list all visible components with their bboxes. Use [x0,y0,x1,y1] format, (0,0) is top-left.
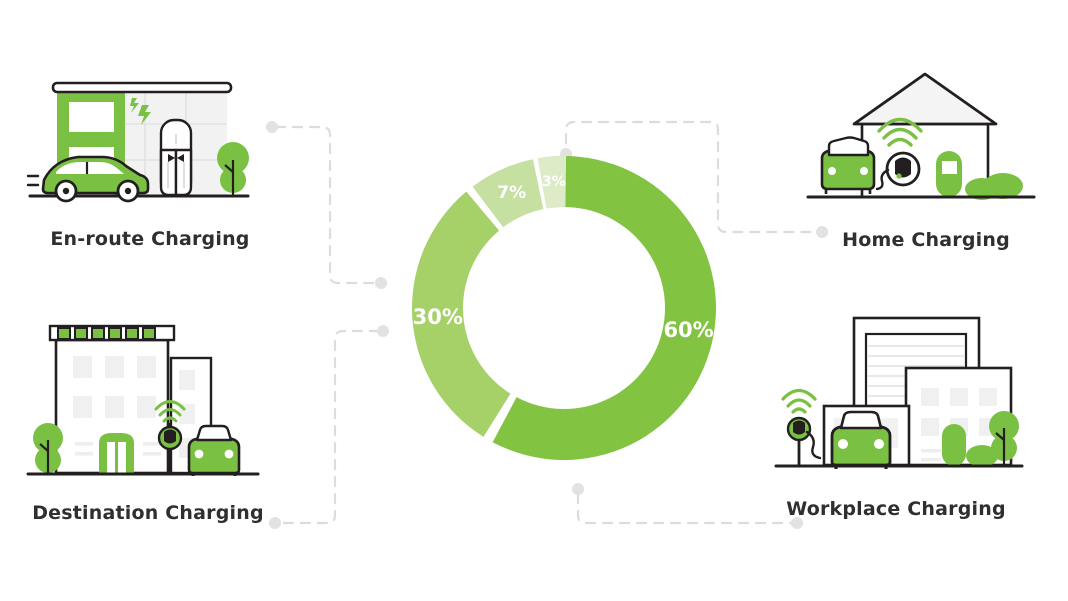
illustration-destination-charging [18,318,278,498]
panel-caption-home: Home Charging [796,229,1056,251]
tree [33,423,63,473]
panel-caption-workplace: Workplace Charging [766,498,1026,520]
donut-label-home: 60% [663,318,713,342]
wifi-icon [783,391,815,413]
donut-label-enroute: 3% [542,174,566,190]
panel-caption-destination: Destination Charging [18,502,278,524]
connector-dot-enroute-end [375,277,387,289]
charging-post [788,418,820,465]
connector-enroute [276,127,377,283]
illustration-workplace-charging [766,306,1036,496]
connector-dot-workplace-start [572,483,584,495]
station-canopy [53,83,231,92]
house-roof [854,74,996,124]
panel-enroute-charging[interactable]: En-route Charging [20,62,280,250]
illustration-home-charging [796,58,1056,223]
donut-svg: 60%30%7%3% [404,148,724,468]
connector-workplace [578,494,793,523]
panel-caption-enroute: En-route Charging [20,228,280,250]
panel-home-charging[interactable]: Home Charging [796,58,1056,251]
connector-dot-destination-start [377,325,389,337]
connector-destination [279,331,379,523]
donut-label-workplace: 7% [497,183,526,203]
infographic-stage: 60%30%7%3% [0,0,1068,601]
panel-workplace-charging[interactable]: Workplace Charging [766,306,1026,520]
panel-destination-charging[interactable]: Destination Charging [18,318,278,524]
electric-car [822,138,874,195]
illustration-enroute-charging [20,62,280,222]
charging-units [161,120,191,195]
donut-label-destination: 30% [413,305,463,329]
donut-chart: 60%30%7%3% [404,148,724,468]
motion-lines [28,176,38,185]
